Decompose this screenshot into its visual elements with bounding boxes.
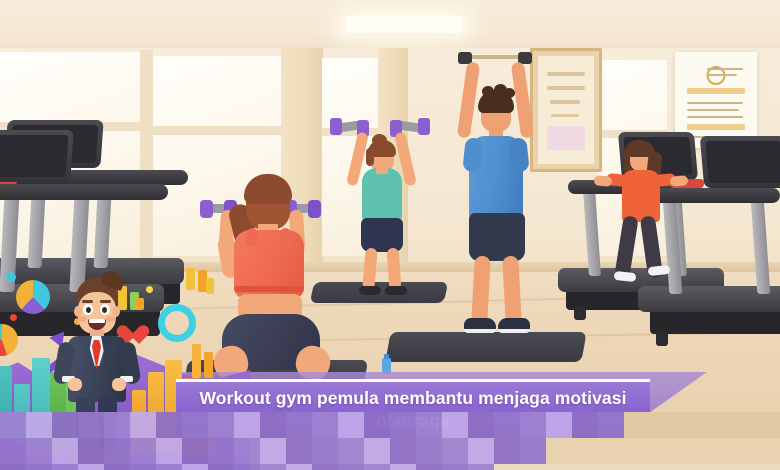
mosaic-cell <box>598 438 624 464</box>
arm-left <box>457 61 480 138</box>
mosaic-cell <box>130 438 156 464</box>
person-man-overhead-bar <box>440 48 550 353</box>
mosaic-cell <box>104 438 130 464</box>
mosaic-cell <box>104 464 130 470</box>
mosaic-cell <box>234 438 260 464</box>
shorts <box>361 218 403 252</box>
barbell-bar <box>464 55 526 59</box>
shoe <box>614 271 637 282</box>
bar-chart-bar <box>206 278 214 294</box>
poster-text-line <box>550 100 580 104</box>
notice-title-line <box>707 74 737 76</box>
mosaic-cell <box>52 464 78 470</box>
mosaic-cell <box>572 464 598 470</box>
treadmill-handlebar <box>0 184 168 200</box>
mosaic-cell <box>468 412 494 438</box>
teeth <box>89 319 105 323</box>
ear <box>112 306 120 317</box>
leg-left <box>471 256 491 325</box>
person-woman-overhead-press <box>330 118 434 298</box>
treadmill-display <box>705 141 780 183</box>
mosaic-cell <box>546 412 572 438</box>
bottom-mosaic-strip <box>0 412 780 470</box>
mosaic-cell <box>78 438 104 464</box>
hand <box>68 378 82 391</box>
mosaic-cell <box>468 438 494 464</box>
mosaic-cell <box>208 464 234 470</box>
mosaic-cell <box>702 438 728 464</box>
mosaic-cell <box>546 464 572 470</box>
mosaic-cell <box>546 438 572 464</box>
mosaic-cell <box>338 464 364 470</box>
cheek <box>106 316 115 322</box>
mosaic-cell <box>754 438 780 464</box>
mosaic-cell <box>676 412 702 438</box>
mosaic-cell <box>234 412 260 438</box>
dumbbell-weight <box>308 200 321 218</box>
leg-left <box>362 248 378 291</box>
caption-line-1: Workout gym pemula membantu menjaga moti… <box>199 388 626 408</box>
top-tank <box>362 168 402 223</box>
cheek <box>78 316 87 322</box>
mosaic-cell <box>364 438 390 464</box>
mosaic-cell <box>520 464 546 470</box>
mosaic-cell <box>728 438 754 464</box>
person-woman-treadmill <box>596 130 686 306</box>
mosaic-cell <box>650 438 676 464</box>
mosaic-cell <box>624 464 650 470</box>
mosaic-cell <box>572 438 598 464</box>
water-bottle <box>382 358 391 374</box>
mosaic-cell <box>598 464 624 470</box>
mosaic-cell <box>754 412 780 438</box>
mosaic-cell <box>754 464 780 470</box>
dumbbell-weight <box>418 118 430 135</box>
mosaic-cell <box>156 464 182 470</box>
mosaic-cell <box>494 464 520 470</box>
bar-chart-bar <box>192 344 201 378</box>
shorts <box>469 213 525 261</box>
mosaic-cell <box>728 464 754 470</box>
eyebrow <box>82 300 93 303</box>
mosaic-cell <box>520 412 546 438</box>
shoe-sole <box>498 329 530 333</box>
shoe <box>648 265 671 276</box>
mosaic-cell <box>650 464 676 470</box>
hand <box>112 378 126 391</box>
ceiling-light-panel <box>344 16 464 33</box>
eye-pupil <box>86 307 91 313</box>
dumbbell-weight <box>330 118 342 135</box>
mosaic-cell <box>260 464 286 470</box>
leg-right <box>387 248 402 291</box>
mosaic-cell <box>260 438 286 464</box>
gym-thumbnail-image: Workout gym pemula membantu menjaga moti… <box>0 0 780 470</box>
treadmill-post <box>751 198 771 294</box>
mosaic-cell <box>494 412 520 438</box>
leg-left <box>614 215 639 279</box>
poster-text-line <box>547 86 585 90</box>
pie-chart-icon <box>0 324 18 356</box>
mosaic-cell <box>182 438 208 464</box>
mosaic-cell <box>0 464 26 470</box>
hair-side <box>366 148 374 166</box>
mosaic-cell <box>728 412 754 438</box>
notice-text-line <box>687 109 739 111</box>
mosaic-cell <box>234 464 260 470</box>
mosaic-cell <box>442 464 468 470</box>
treadmill-display <box>0 135 68 177</box>
decorative-dot <box>6 272 16 282</box>
mosaic-cell <box>182 464 208 470</box>
mosaic-cell <box>676 464 702 470</box>
notice-text-line <box>687 116 743 118</box>
mosaic-cell <box>338 438 364 464</box>
mosaic-cell <box>624 412 650 438</box>
bar-chart-bar <box>204 352 213 378</box>
decorative-dot <box>10 314 17 321</box>
mosaic-cell <box>390 412 416 438</box>
shoe-sole <box>464 329 496 333</box>
mosaic-cell <box>494 438 520 464</box>
mosaic-cell <box>182 412 208 438</box>
hair-top <box>244 174 292 204</box>
mosaic-cell <box>390 464 416 470</box>
arm-right <box>670 175 689 187</box>
mosaic-cell <box>416 412 442 438</box>
mosaic-cell <box>676 438 702 464</box>
eye-pupil <box>102 307 107 313</box>
mosaic-cell <box>442 438 468 464</box>
bar-chart-bar <box>186 268 195 290</box>
mosaic-cell <box>468 464 494 470</box>
mosaic-cell <box>0 438 26 464</box>
treadmill-console <box>700 136 780 188</box>
mosaic-cell <box>598 412 624 438</box>
mosaic-cell <box>312 438 338 464</box>
hair-curl <box>482 86 494 97</box>
mosaic-cell <box>78 464 104 470</box>
mosaic-cell <box>416 438 442 464</box>
hair-curl <box>504 88 515 98</box>
mosaic-cell <box>364 412 390 438</box>
notice-title-line <box>707 68 743 70</box>
notice-band <box>687 88 745 94</box>
poster-text-line <box>547 72 585 76</box>
mosaic-cell <box>416 464 442 470</box>
mosaic-cell <box>208 438 234 464</box>
ring-icon <box>158 304 196 342</box>
mosaic-cell <box>130 464 156 470</box>
shoe <box>385 286 407 295</box>
mosaic-cell <box>312 464 338 470</box>
mosaic-cell <box>442 412 468 438</box>
decorative-dot <box>146 286 153 293</box>
mosaic-cell <box>130 412 156 438</box>
neck <box>376 166 388 174</box>
mosaic-cell <box>520 438 546 464</box>
mosaic-cell <box>286 412 312 438</box>
mosaic-cell <box>26 412 52 438</box>
mosaic-cell <box>650 412 676 438</box>
dumbbell-weight <box>200 200 213 218</box>
mosaic-cell <box>156 438 182 464</box>
mosaic-cell <box>702 464 728 470</box>
mosaic-cell <box>0 412 26 438</box>
mosaic-cell <box>208 412 234 438</box>
mosaic-cell <box>260 412 286 438</box>
poster-text-line <box>551 114 579 117</box>
arm-left <box>594 175 613 187</box>
notice-text-line <box>687 102 743 104</box>
mosaic-cell <box>312 412 338 438</box>
eyebrow <box>100 300 111 303</box>
treadmill-foot <box>656 332 668 346</box>
mosaic-cell <box>52 438 78 464</box>
mosaic-cell <box>572 412 598 438</box>
mosaic-cell <box>26 438 52 464</box>
mosaic-cell <box>286 464 312 470</box>
mosaic-cell <box>104 412 130 438</box>
mosaic-cell <box>26 464 52 470</box>
sleeve-right <box>508 137 529 173</box>
mosaic-cell <box>286 438 312 464</box>
pie-chart-icon <box>16 280 50 314</box>
arm-right <box>511 61 534 138</box>
mosaic-cell <box>702 412 728 438</box>
treadmill-foot <box>574 306 586 320</box>
mosaic-cell <box>52 412 78 438</box>
leg-right <box>502 256 522 325</box>
mosaic-cell <box>338 412 364 438</box>
treadmill-console <box>0 130 74 182</box>
mosaic-cell <box>624 438 650 464</box>
mosaic-cell <box>364 464 390 470</box>
mosaic-cell <box>156 412 182 438</box>
mosaic-cell <box>390 438 416 464</box>
shoe <box>359 286 381 295</box>
mosaic-cell <box>78 412 104 438</box>
